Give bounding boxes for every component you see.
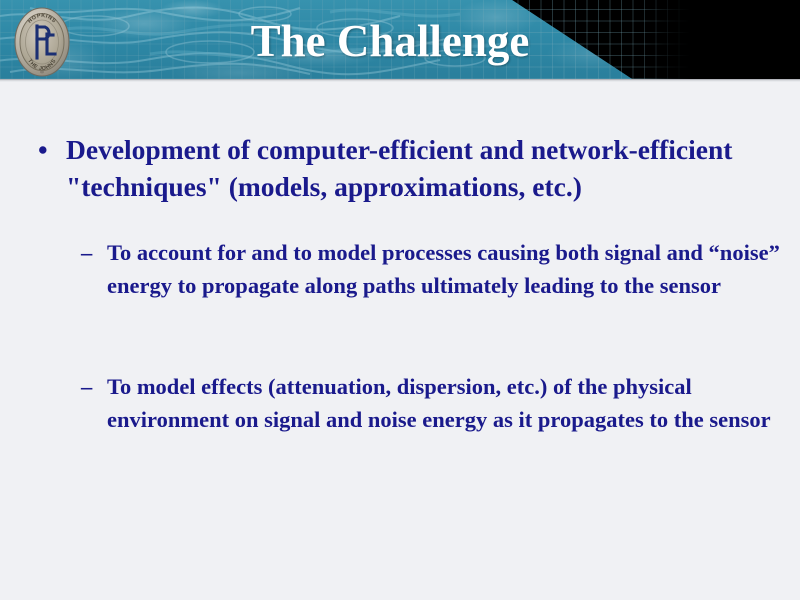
slide-header-banner: HOPKINS THE JOHNS The Challenge <box>0 0 800 79</box>
bullet-item-level1: • Development of computer-efficient and … <box>0 131 800 205</box>
bullet-item-level2: – To account for and to model processes … <box>0 236 800 302</box>
bullet-marker-dot: • <box>38 131 48 168</box>
bullet-marker-dash: – <box>81 370 92 403</box>
slide-title: The Challenge <box>0 15 780 67</box>
presentation-slide: HOPKINS THE JOHNS The Challenge • Develo… <box>0 0 800 600</box>
bullet-text: Development of computer-efficient and ne… <box>66 131 780 205</box>
bullet-text: To account for and to model processes ca… <box>107 236 797 302</box>
bullet-marker-dash: – <box>81 236 92 269</box>
slide-body: • Development of computer-efficient and … <box>0 79 800 600</box>
bullet-text: To model effects (attenuation, dispersio… <box>107 370 797 436</box>
bullet-item-level2: – To model effects (attenuation, dispers… <box>0 370 800 436</box>
